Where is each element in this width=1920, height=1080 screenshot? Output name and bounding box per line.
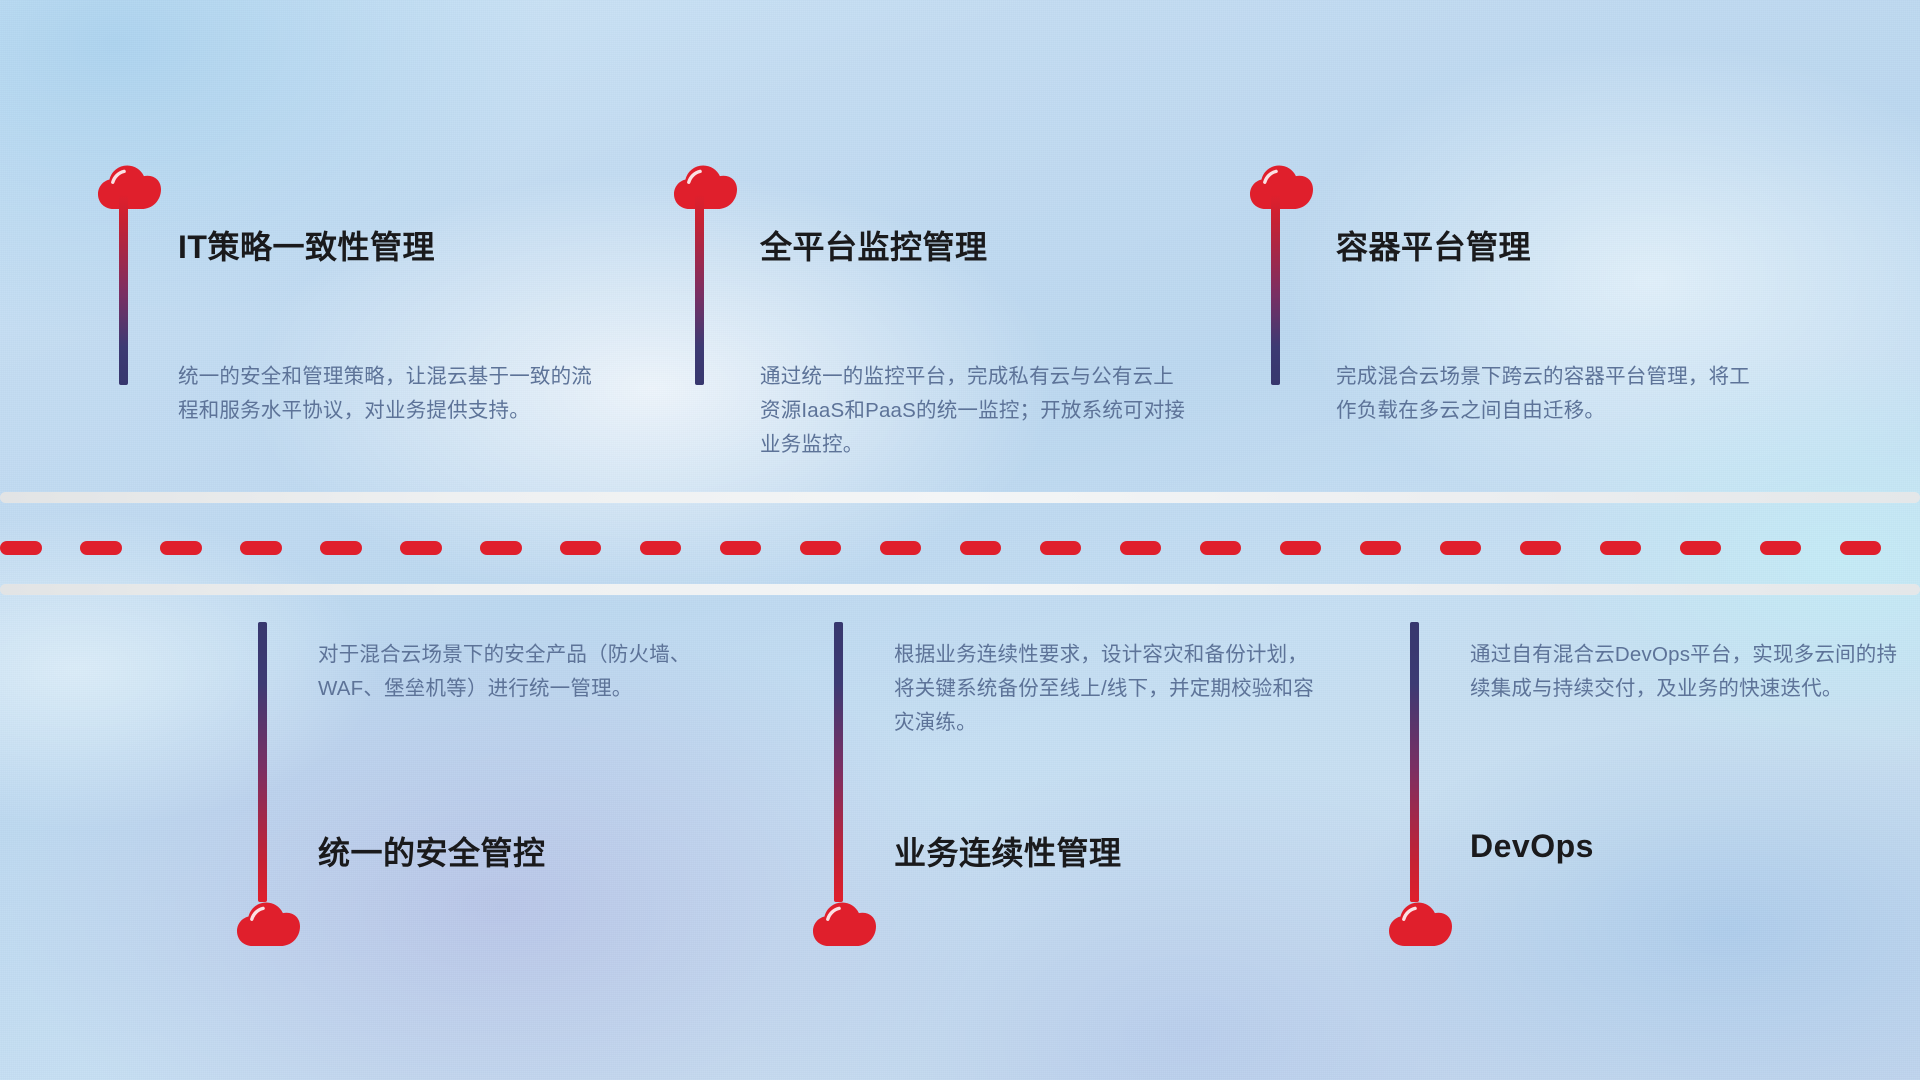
road-dash-segment <box>1440 541 1482 555</box>
road-dash-segment <box>1360 541 1402 555</box>
top-item-body: 完成混合云场景下跨云的容器平台管理，将工作负载在多云之间自由迁移。 <box>1336 360 1768 428</box>
cloud-icon <box>235 897 301 947</box>
top-item-title: 全平台监控管理 <box>760 222 988 268</box>
bottom-item-title: DevOps <box>1470 828 1594 865</box>
road-line-top <box>0 492 1920 503</box>
road-dash-segment <box>1120 541 1162 555</box>
top-item-title: IT策略一致性管理 <box>178 222 435 268</box>
road-dash-segment <box>1840 541 1882 555</box>
road-dash-segment <box>480 541 522 555</box>
road-dash-segment <box>800 541 842 555</box>
road-dash-segment <box>1760 541 1802 555</box>
road-dash-segment <box>80 541 122 555</box>
road-dash-segment <box>0 541 42 555</box>
road-dash-segment <box>160 541 202 555</box>
road-dash-segment <box>560 541 602 555</box>
road-dash-segment <box>880 541 922 555</box>
top-item-body: 统一的安全和管理策略，让混云基于一致的流程和服务水平协议，对业务提供支持。 <box>178 360 610 428</box>
cloud-icon <box>811 897 877 947</box>
road-dash-segment <box>240 541 282 555</box>
road-dash-segment <box>1280 541 1322 555</box>
cloud-icon <box>1387 897 1453 947</box>
road-dash-segment <box>720 541 762 555</box>
connector-stem <box>119 195 128 385</box>
cloud-icon <box>672 160 738 210</box>
road-dash-segment <box>320 541 362 555</box>
bottom-item-body: 通过自有混合云DevOps平台，实现多云间的持续集成与持续交付，及业务的快速迭代… <box>1470 638 1902 706</box>
road-dash-segment <box>1040 541 1082 555</box>
connector-stem <box>1410 622 1419 902</box>
bottom-item-title: 统一的安全管控 <box>318 828 546 874</box>
connector-stem <box>834 622 843 902</box>
road-dash-segment <box>1520 541 1562 555</box>
road-dash-segment <box>1200 541 1242 555</box>
road-dash-segment <box>640 541 682 555</box>
cloud-icon <box>1248 160 1314 210</box>
bottom-item-body: 根据业务连续性要求，设计容灾和备份计划，将关键系统备份至线上/线下，并定期校验和… <box>894 638 1326 740</box>
top-item-title: 容器平台管理 <box>1336 222 1531 268</box>
connector-stem <box>695 195 704 385</box>
cloud-icon <box>96 160 162 210</box>
road-dash-segment <box>1680 541 1722 555</box>
road-dash-segment <box>960 541 1002 555</box>
connector-stem <box>258 622 267 902</box>
connector-stem <box>1271 195 1280 385</box>
bottom-item-body: 对于混合云场景下的安全产品（防火墙、WAF、堡垒机等）进行统一管理。 <box>318 638 750 706</box>
road-line-bottom <box>0 584 1920 595</box>
road-dash-segment <box>1600 541 1642 555</box>
bottom-item-title: 业务连续性管理 <box>894 828 1122 874</box>
road-dashed-centerline <box>0 541 1920 555</box>
road-dash-segment <box>400 541 442 555</box>
top-item-body: 通过统一的监控平台，完成私有云与公有云上资源IaaS和PaaS的统一监控；开放系… <box>760 360 1192 462</box>
